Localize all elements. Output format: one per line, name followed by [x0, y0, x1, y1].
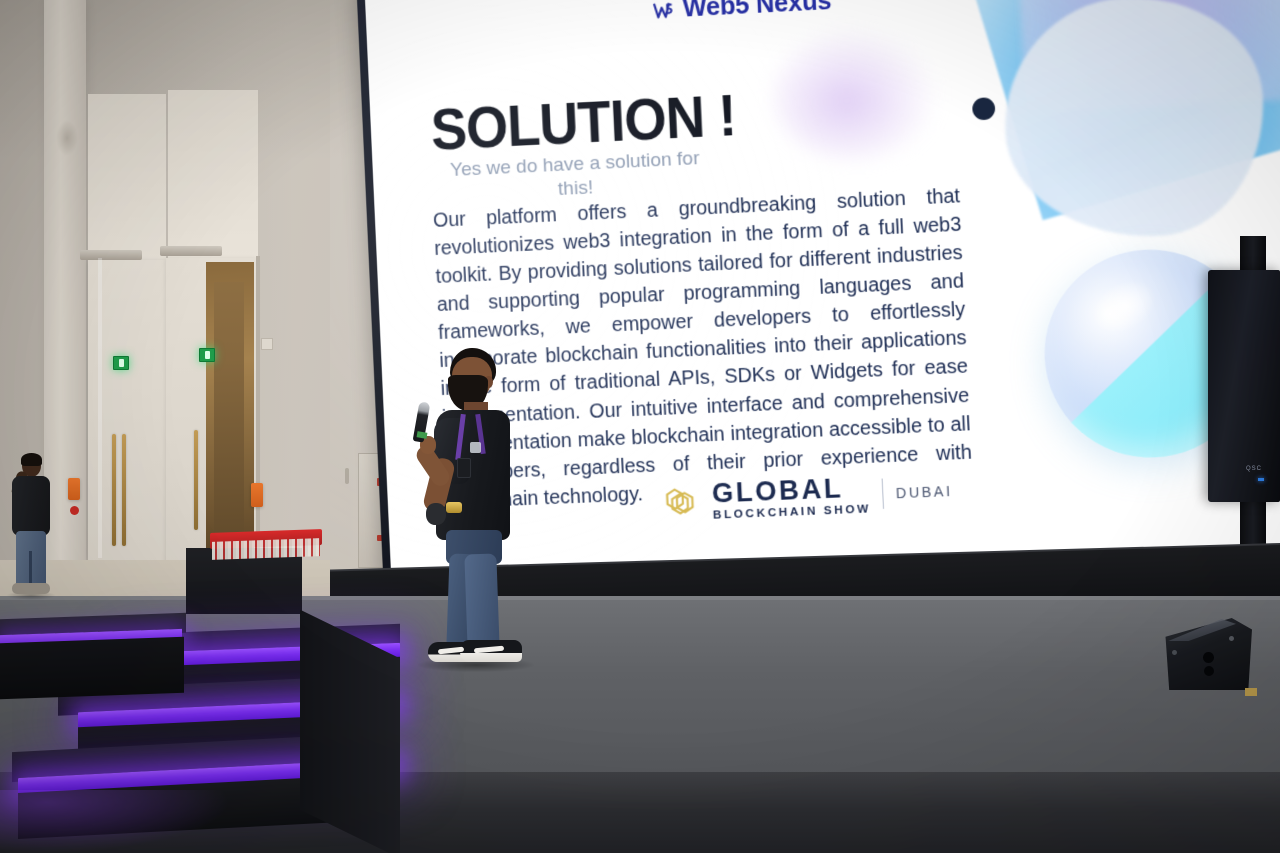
pillar-smudge: [56, 120, 78, 156]
web5-monogram-icon: [653, 0, 676, 22]
attendee-leg-gap: [29, 551, 32, 587]
exit-running-man-glyph: [205, 351, 210, 359]
wall-seam: [98, 258, 102, 558]
slide-brand: Web5 Nexus: [653, 0, 832, 25]
presenter-badge: [457, 458, 471, 478]
exit-sign-icon: [199, 348, 215, 362]
attendee-torso: [12, 476, 50, 536]
decor-ice-blob: [1000, 0, 1270, 243]
decor-blue-corner-gradient: [931, 0, 1280, 220]
upper-platform-face: [0, 637, 184, 699]
door-handle-icon[interactable]: [112, 434, 116, 546]
gbs-main-label: GLOBAL: [711, 473, 870, 507]
wedge-screw: [1229, 636, 1234, 641]
stage-scene: Web5 Nexus SOLUTION ! Yes we do have a s…: [0, 0, 1280, 853]
attendee-shoes: [12, 583, 50, 594]
doorway-interior: [214, 282, 244, 572]
door-handle-icon[interactable]: [122, 434, 126, 546]
wall-hook-icon: [345, 468, 349, 484]
wedge-screw: [1172, 650, 1177, 655]
speaker-power-led-icon: [1258, 478, 1264, 481]
door-closer-left: [80, 250, 142, 260]
attendee-hair: [21, 453, 42, 466]
wedge-monitor-port-icon: [1204, 666, 1214, 676]
door-transom-right: [168, 90, 258, 262]
brand-name: Web5 Nexus: [682, 0, 832, 24]
door-closer-right: [160, 246, 222, 256]
tower-speaker: [1208, 270, 1280, 502]
decor-sphere-highlight: [1083, 269, 1166, 343]
decor-purple-halo: [1011, 0, 1280, 113]
fire-call-point-icon[interactable]: [68, 478, 80, 500]
decor-navy-dot: [972, 97, 996, 120]
table-items: [212, 538, 320, 560]
presenter-shirt-logo: [470, 442, 481, 453]
global-blockchain-show-cube-icon: [661, 482, 701, 522]
wall-switch-plate[interactable]: [261, 338, 273, 350]
attendee-on-phone: [4, 455, 56, 605]
alarm-button-icon[interactable]: [70, 506, 79, 515]
led-floor-glow: [0, 790, 230, 853]
global-blockchain-show-text: GLOBAL BLOCKCHAIN SHOW: [711, 473, 871, 521]
exit-sign-icon: [113, 356, 129, 370]
presenter-leg-front: [464, 553, 499, 650]
presenter: [412, 348, 522, 674]
door-transom-left: [88, 94, 166, 264]
decor-cyan-square: [1175, 275, 1190, 290]
gbs-city-label: DUBAI: [896, 483, 953, 501]
cable-tape: [1245, 688, 1257, 696]
door-handle-icon[interactable]: [194, 430, 198, 530]
presenter-second-hand: [426, 503, 446, 525]
speaker-brand-label: QSC: [1246, 466, 1262, 472]
wedge-monitor-port-icon: [1203, 652, 1214, 663]
exit-running-man-glyph: [119, 359, 124, 367]
logo-divider: [882, 479, 884, 509]
decor-lilac-blob: [770, 24, 939, 163]
fire-call-point-icon[interactable]: [251, 483, 263, 507]
presenter-watch: [446, 502, 462, 513]
